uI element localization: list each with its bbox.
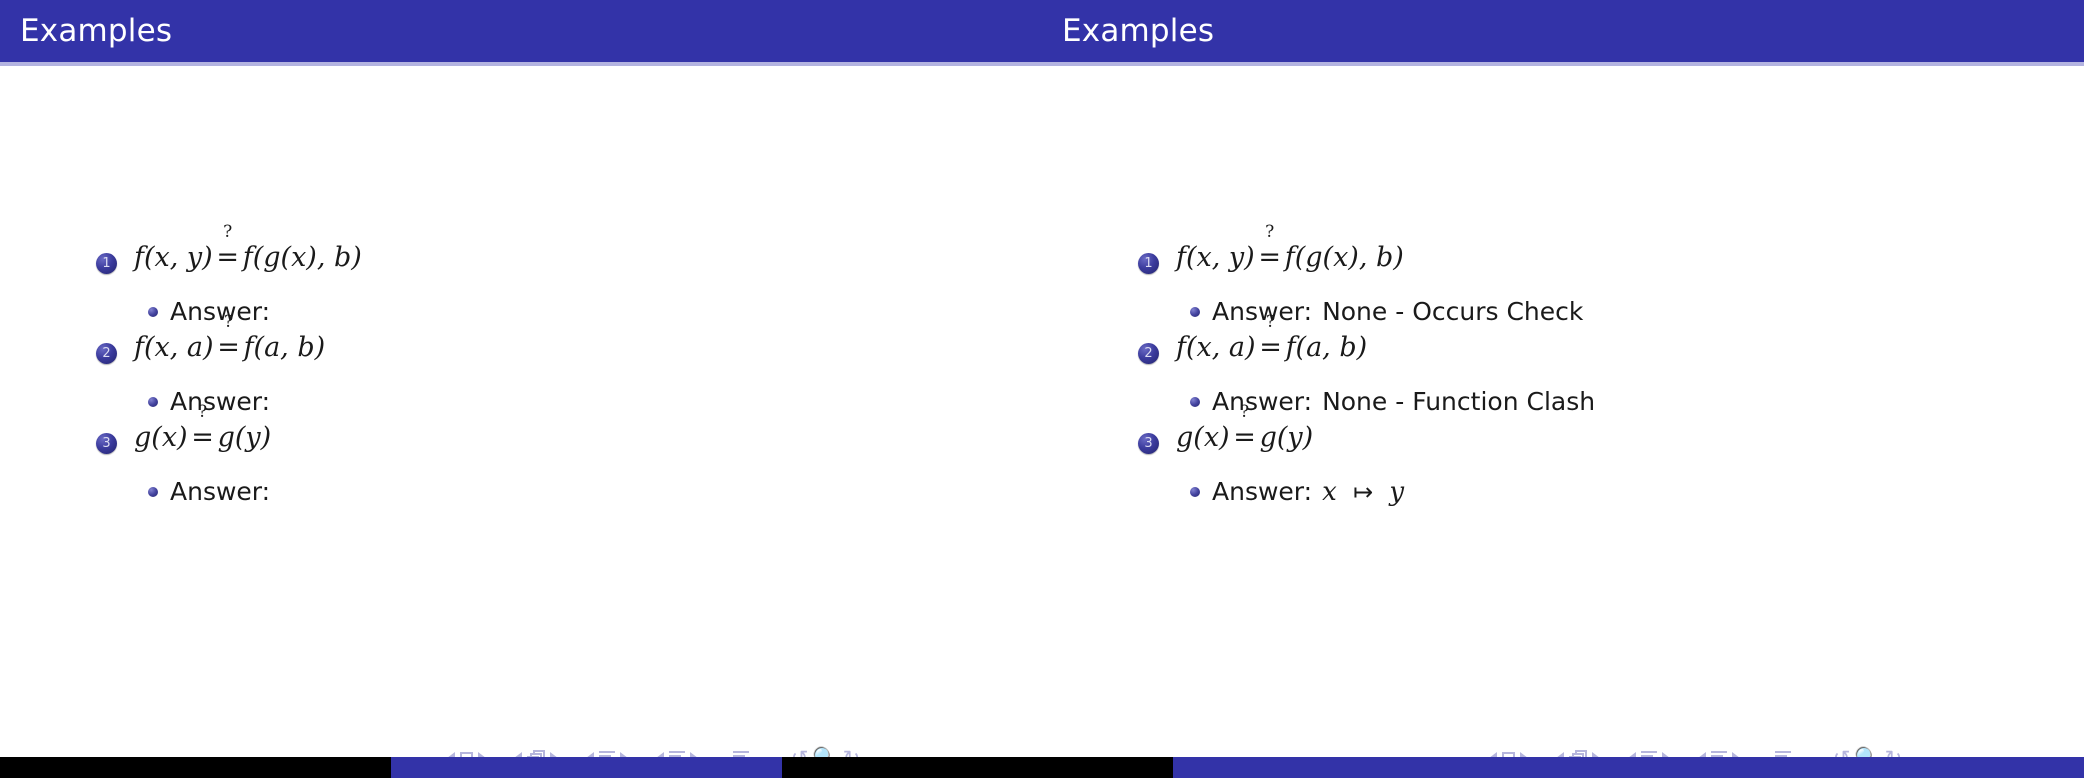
content-right: 1 f(x, y) ? = f(g(x), b) [1138,244,2038,514]
page-title-left: Examples [0,13,172,49]
question-equals-icon: ? = [214,334,244,361]
equation-3: g(x) ? = g(y) [134,424,271,451]
list-item: Answer: None - Function Clash [1176,379,2038,424]
bullet-dot-icon [148,397,158,407]
enum-marker: 2 [96,343,117,364]
equation-2: f(x, a) ? = f(a, b) [1176,334,1367,361]
header-underline [0,62,2084,66]
enum-marker: 3 [96,433,117,454]
bottom-bar-segment [782,757,1173,778]
list-item: 2 f(x, a) ? = f(a, b) [96,334,996,424]
list-item: 3 g(x) ? = g(y) [1138,424,2038,514]
equation-2: f(x, a) ? = f(a, b) [134,334,325,361]
list-item: Answer: x ↦ y [1176,469,2038,514]
answer-list: Answer: [134,289,996,334]
answer-label: Answer: [1212,477,1312,506]
header-left: Examples [0,0,1042,62]
enum-marker: 3 [1138,433,1159,454]
answer-value: None - Occurs Check [1322,297,1583,326]
answer-value: None - Function Clash [1322,387,1595,416]
answer-list: Answer: x ↦ y [1176,469,2038,514]
question-equals-icon: ? = [213,244,243,271]
answer-list: Answer: None - Function Clash [1176,379,2038,424]
examples-list-left: 1 f(x, y) ? = f(g(x), b) [96,244,996,514]
bullet-dot-icon [148,307,158,317]
page-title-right: Examples [1042,13,1214,49]
list-item: 3 g(x) ? = g(y) [96,424,996,514]
bullet-dot-icon [148,487,158,497]
bottom-bar-segment [0,757,391,778]
question-equals-icon: ? = [1255,244,1285,271]
enum-marker: 1 [1138,253,1159,274]
list-item: Answer: [134,469,996,514]
list-item: Answer: None - Occurs Check [1176,289,2038,334]
list-item: Answer: [134,289,996,334]
enum-marker: 2 [1138,343,1159,364]
answer-list: Answer: [134,469,996,514]
answer-label: Answer: [170,477,270,506]
slide-left: 1 f(x, y) ? = f(g(x), b) [0,62,1042,738]
question-equals-icon: ? = [1256,334,1286,361]
answer-list: Answer: [134,379,996,424]
substitution-var-from: x [1322,477,1337,507]
slide-comparison-deck: Examples Examples 1 f(x, y) ? [0,0,2084,778]
list-item: 2 f(x, a) ? = f(a, b) [1138,334,2038,424]
substitution-var-to: y [1389,477,1404,507]
enum-marker: 1 [96,253,117,274]
equation-1: f(x, y) ? = f(g(x), b) [134,244,362,271]
bottom-bar-segment [391,757,782,778]
bottom-color-bar [0,757,2084,778]
equation-1: f(x, y) ? = f(g(x), b) [1176,244,1404,271]
bottom-bar-segment [1173,757,2084,778]
answer-label: Answer: [170,387,270,416]
slide-right: 1 f(x, y) ? = f(g(x), b) [1042,62,2084,738]
header-bar: Examples Examples [0,0,2084,62]
bullet-dot-icon [1190,307,1200,317]
answer-list: Answer: None - Occurs Check [1176,289,2038,334]
answer-value-substitution: x ↦ y [1322,477,1404,507]
header-right: Examples [1042,0,2084,62]
slides-body: 1 f(x, y) ? = f(g(x), b) [0,62,2084,738]
bullet-dot-icon [1190,487,1200,497]
question-equals-icon: ? = [188,424,218,451]
content-left: 1 f(x, y) ? = f(g(x), b) [96,244,996,514]
list-item: Answer: [134,379,996,424]
question-equals-icon: ? = [1230,424,1260,451]
answer-label: Answer: [1212,387,1312,416]
equation-3: g(x) ? = g(y) [1176,424,1313,451]
mapsto-icon: ↦ [1345,478,1381,506]
examples-list-right: 1 f(x, y) ? = f(g(x), b) [1138,244,2038,514]
bullet-dot-icon [1190,397,1200,407]
